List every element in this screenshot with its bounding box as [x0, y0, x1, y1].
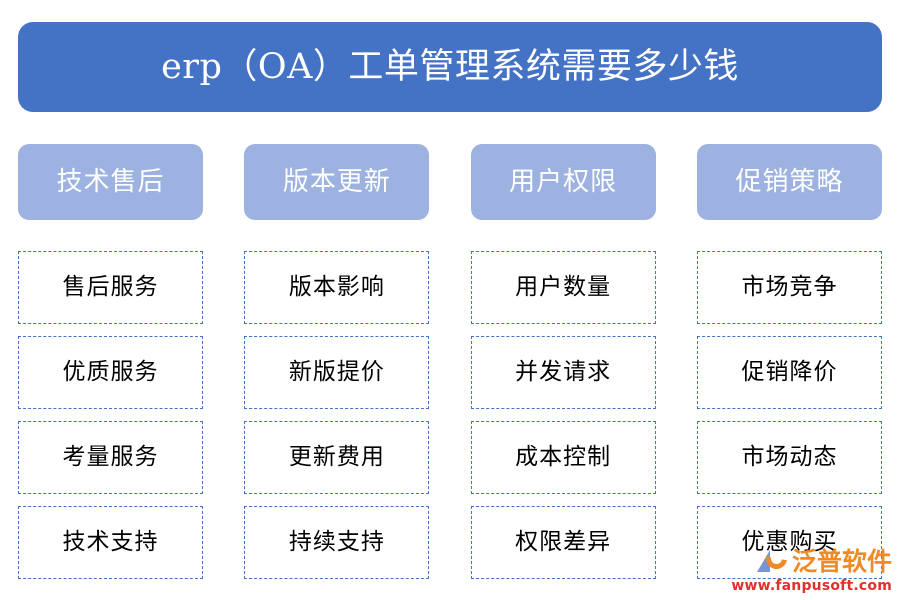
category-cell[interactable]: 版本影响 — [244, 251, 429, 324]
column-header-4[interactable]: 促销策略 — [697, 144, 882, 220]
watermark-url-label: www.fanpusoft.com — [712, 579, 892, 593]
category-cell[interactable]: 更新费用 — [244, 421, 429, 494]
category-cell-label: 持续支持 — [289, 531, 385, 554]
category-cell[interactable]: 售后服务 — [18, 251, 203, 324]
column-header-label-3: 用户权限 — [509, 169, 617, 195]
category-cell[interactable]: 成本控制 — [471, 421, 656, 494]
category-cell-label: 用户数量 — [515, 276, 611, 299]
category-column-2: 版本更新 版本影响 新版提价 更新费用 持续支持 — [244, 144, 429, 579]
category-cell[interactable]: 市场动态 — [697, 421, 882, 494]
category-cell[interactable]: 考量服务 — [18, 421, 203, 494]
page-canvas: erp（OA）工单管理系统需要多少钱 技术售后 售后服务 优质服务 考量服务 技… — [0, 0, 900, 600]
category-cell-label: 售后服务 — [63, 276, 159, 299]
category-cell-label: 成本控制 — [515, 446, 611, 469]
category-grid: 技术售后 售后服务 优质服务 考量服务 技术支持 版本更新 版本影响 — [18, 144, 882, 579]
category-cell[interactable]: 优质服务 — [18, 336, 203, 409]
category-cell[interactable]: 市场竞争 — [697, 251, 882, 324]
category-cell[interactable]: 优惠购买 — [697, 506, 882, 579]
column-header-label-1: 技术售后 — [56, 169, 164, 195]
column-header-label-4: 促销策略 — [735, 169, 843, 195]
category-column-3: 用户权限 用户数量 并发请求 成本控制 权限差异 — [471, 144, 656, 579]
column-header-1[interactable]: 技术售后 — [18, 144, 203, 220]
category-cell[interactable]: 并发请求 — [471, 336, 656, 409]
category-cell[interactable]: 技术支持 — [18, 506, 203, 579]
category-cell[interactable]: 促销降价 — [697, 336, 882, 409]
category-cell-label: 市场动态 — [741, 446, 837, 469]
column-header-label-2: 版本更新 — [283, 169, 391, 195]
category-cell[interactable]: 权限差异 — [471, 506, 656, 579]
category-column-4: 促销策略 市场竞争 促销降价 市场动态 优惠购买 — [697, 144, 882, 579]
category-cell-label: 技术支持 — [63, 531, 159, 554]
category-cell-label: 促销降价 — [741, 361, 837, 384]
category-cell-label: 权限差异 — [515, 531, 611, 554]
category-cell-label: 版本影响 — [289, 276, 385, 299]
category-cell-label: 优质服务 — [63, 361, 159, 384]
category-cell-label: 更新费用 — [289, 446, 385, 469]
category-cell-label: 考量服务 — [63, 446, 159, 469]
column-header-3[interactable]: 用户权限 — [471, 144, 656, 220]
category-cell-label: 并发请求 — [515, 361, 611, 384]
page-title: erp（OA）工单管理系统需要多少钱 — [161, 50, 739, 85]
category-cell[interactable]: 新版提价 — [244, 336, 429, 409]
category-cell[interactable]: 用户数量 — [471, 251, 656, 324]
category-cell-label: 市场竞争 — [741, 276, 837, 299]
column-header-2[interactable]: 版本更新 — [244, 144, 429, 220]
title-banner: erp（OA）工单管理系统需要多少钱 — [18, 22, 882, 112]
category-cell-label: 优惠购买 — [741, 531, 837, 554]
category-cell[interactable]: 持续支持 — [244, 506, 429, 579]
category-column-1: 技术售后 售后服务 优质服务 考量服务 技术支持 — [18, 144, 203, 579]
category-cell-label: 新版提价 — [289, 361, 385, 384]
